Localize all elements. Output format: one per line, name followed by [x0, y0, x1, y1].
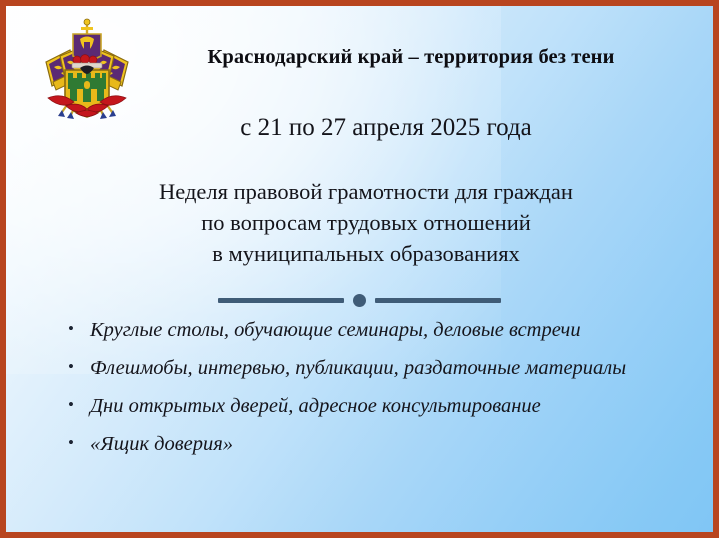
- date-range: с 21 по 27 апреля 2025 года: [126, 114, 646, 142]
- bullet-dot-icon: •: [68, 434, 90, 451]
- list-item: • Круглые столы, обучающие семинары, дел…: [68, 319, 698, 357]
- divider-rule-right: [375, 298, 501, 303]
- coat-of-arms-icon: [40, 18, 134, 122]
- list-item-label: Круглые столы, обучающие семинары, делов…: [90, 319, 581, 342]
- bullet-dot-icon: •: [68, 358, 90, 375]
- subtitle-line-2: по вопросам трудовых отношений: [66, 207, 666, 238]
- divider-dot-icon: [353, 294, 366, 307]
- divider-rule-left: [218, 298, 344, 303]
- activity-list: • Круглые столы, обучающие семинары, дел…: [68, 319, 698, 471]
- subtitle-line-1: Неделя правовой грамотности для граждан: [66, 176, 666, 207]
- header: Краснодарский край – территория без тени: [6, 6, 713, 112]
- list-item: • «Ящик доверия»: [68, 433, 698, 471]
- page-title: Краснодарский край – территория без тени: [146, 46, 676, 69]
- poster-slide: Краснодарский край – территория без тени…: [0, 0, 719, 538]
- subtitle-line-3: в муниципальных образованиях: [66, 238, 666, 269]
- list-item: • Дни открытых дверей, адресное консульт…: [68, 395, 698, 433]
- bullet-dot-icon: •: [68, 320, 90, 337]
- subtitle-block: Неделя правовой грамотности для граждан …: [66, 176, 666, 269]
- section-divider: [6, 294, 713, 307]
- list-item-label: «Ящик доверия»: [90, 433, 233, 456]
- list-item: • Флешмобы, интервью, публикации, раздат…: [68, 357, 698, 395]
- list-item-label: Флешмобы, интервью, публикации, раздаточ…: [90, 357, 626, 380]
- list-item-label: Дни открытых дверей, адресное консультир…: [90, 395, 541, 418]
- bullet-dot-icon: •: [68, 396, 90, 413]
